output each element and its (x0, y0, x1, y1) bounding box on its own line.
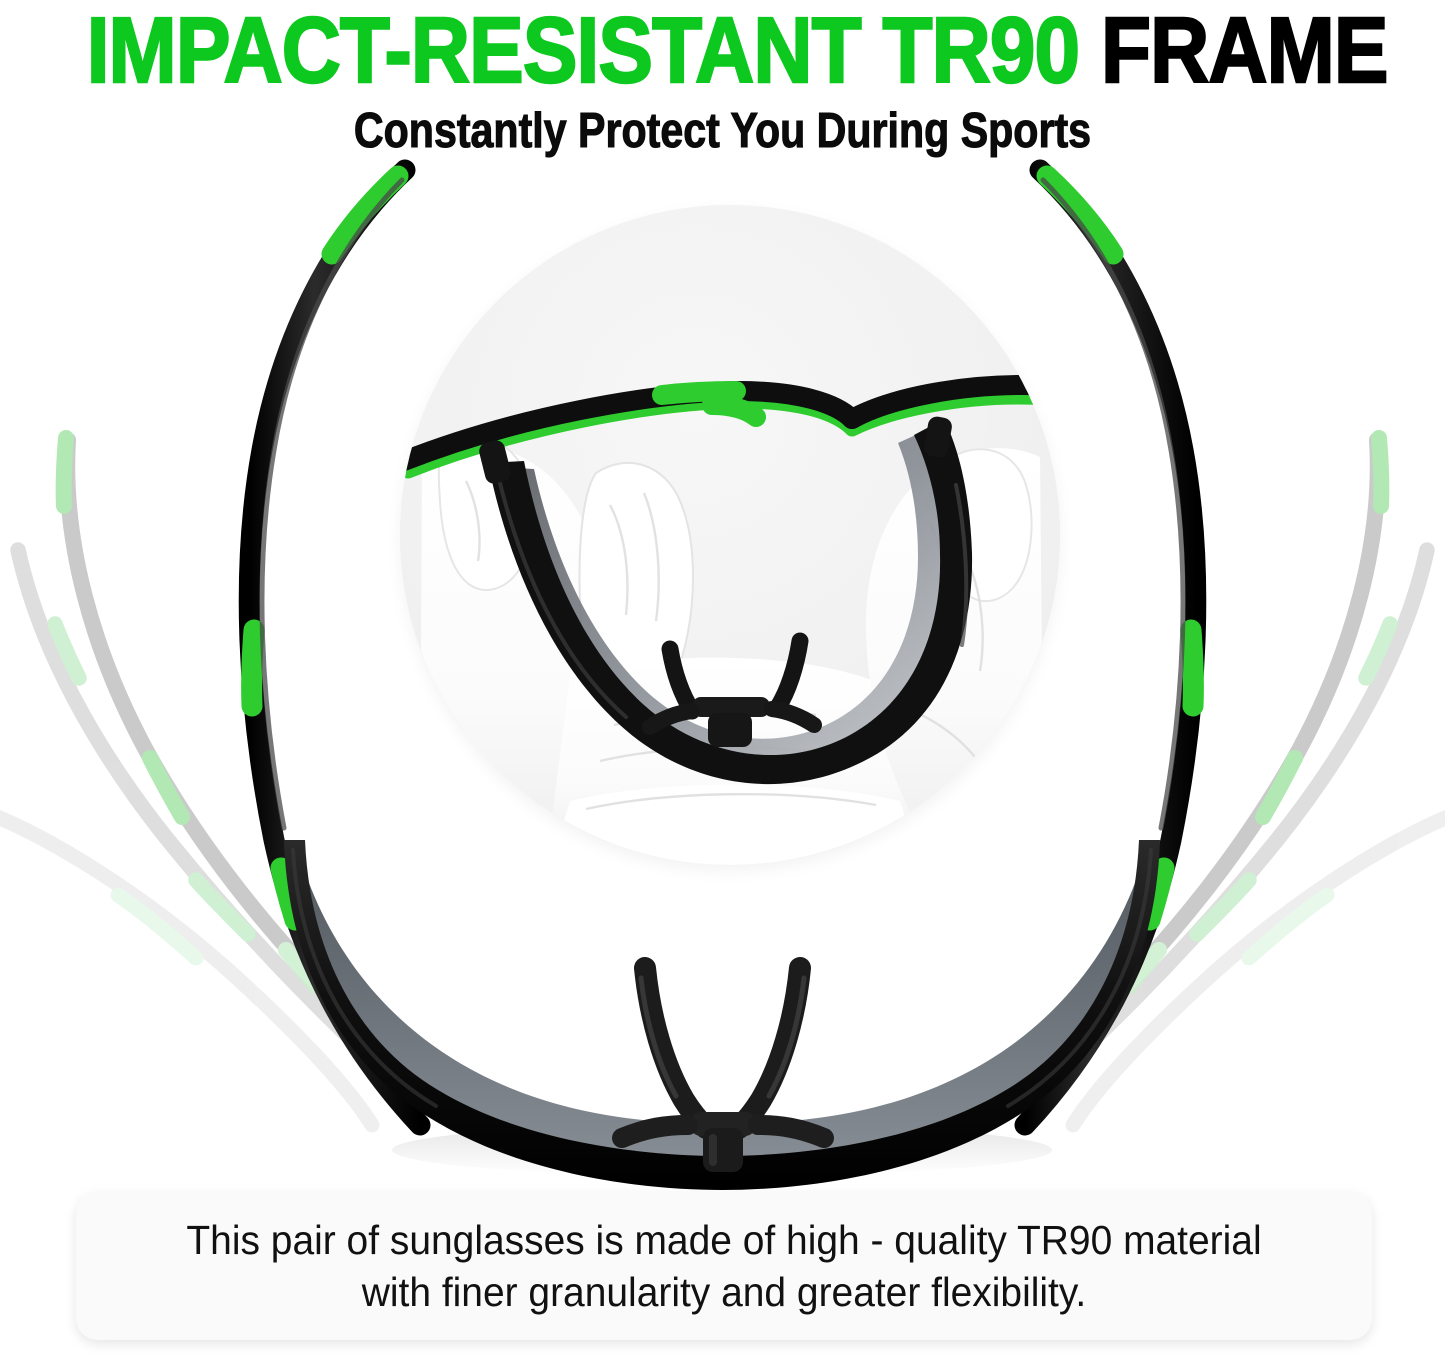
caption-line-2: with finer granularity and greater flexi… (362, 1269, 1087, 1315)
description-caption-box: This pair of sunglasses is made of high … (76, 1192, 1372, 1340)
page-headline: IMPACT-RESISTANT TR90 FRAME (87, 2, 1359, 98)
product-infographic-page: IMPACT-RESISTANT TR90 FRAME Constantly P… (0, 0, 1445, 1354)
caption-line-1: This pair of sunglasses is made of high … (186, 1217, 1261, 1263)
headline-black-part (1079, 0, 1101, 102)
page-subheadline: Constantly Protect You During Sports (116, 104, 1330, 158)
header-block: IMPACT-RESISTANT TR90 FRAME Constantly P… (0, 0, 1445, 180)
flex-demo-circle-inset (400, 205, 1060, 865)
headline-green-part: IMPACT-RESISTANT TR90 (87, 0, 1079, 102)
description-caption-text: This pair of sunglasses is made of high … (164, 1214, 1285, 1318)
left-temple-ghost-trails (0, 438, 372, 1125)
headline-black-word: FRAME (1101, 0, 1388, 102)
right-temple-ghost-trails (1073, 438, 1445, 1125)
